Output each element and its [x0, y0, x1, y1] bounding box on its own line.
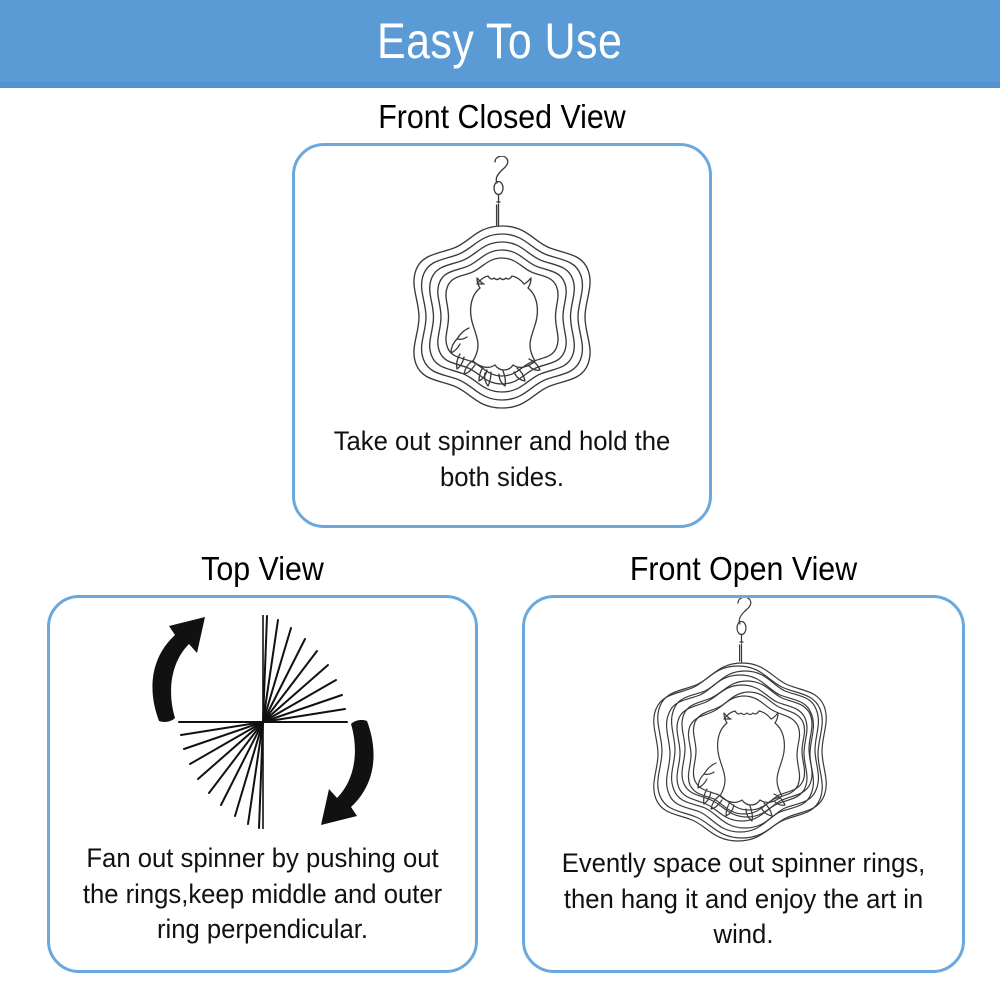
wind-spinner-closed-illustration [295, 154, 709, 419]
caption-front-open-view: Evently space out spinner rings, then ha… [549, 846, 938, 953]
card-front-closed-view: Take out spinner and hold the both sides… [292, 143, 712, 528]
panel-title-front-open-view: Front Open View [540, 552, 948, 585]
arrow-push-down-right [321, 720, 374, 825]
header-band-underline [0, 82, 1000, 88]
header-banner: Easy To Use [0, 0, 1000, 82]
fan-lines-upper-right [263, 616, 347, 722]
fan-lines-lower-left [179, 722, 263, 828]
caption-top-view: Fan out spinner by pushing out the rings… [74, 841, 451, 948]
panel-title-front-closed-view: Front Closed View [309, 100, 695, 133]
page-title: Easy To Use [377, 16, 622, 66]
card-top-view: Fan out spinner by pushing out the rings… [47, 595, 478, 973]
card-front-open-view: Evently space out spinner rings, then ha… [522, 595, 965, 973]
wind-spinner-open-illustration [525, 598, 962, 846]
caption-front-closed-view: Take out spinner and hold the both sides… [319, 424, 686, 495]
fan-out-rotation-diagram [50, 602, 475, 840]
arrow-push-up-left [152, 617, 205, 722]
panel-title-top-view: Top View [64, 552, 461, 585]
